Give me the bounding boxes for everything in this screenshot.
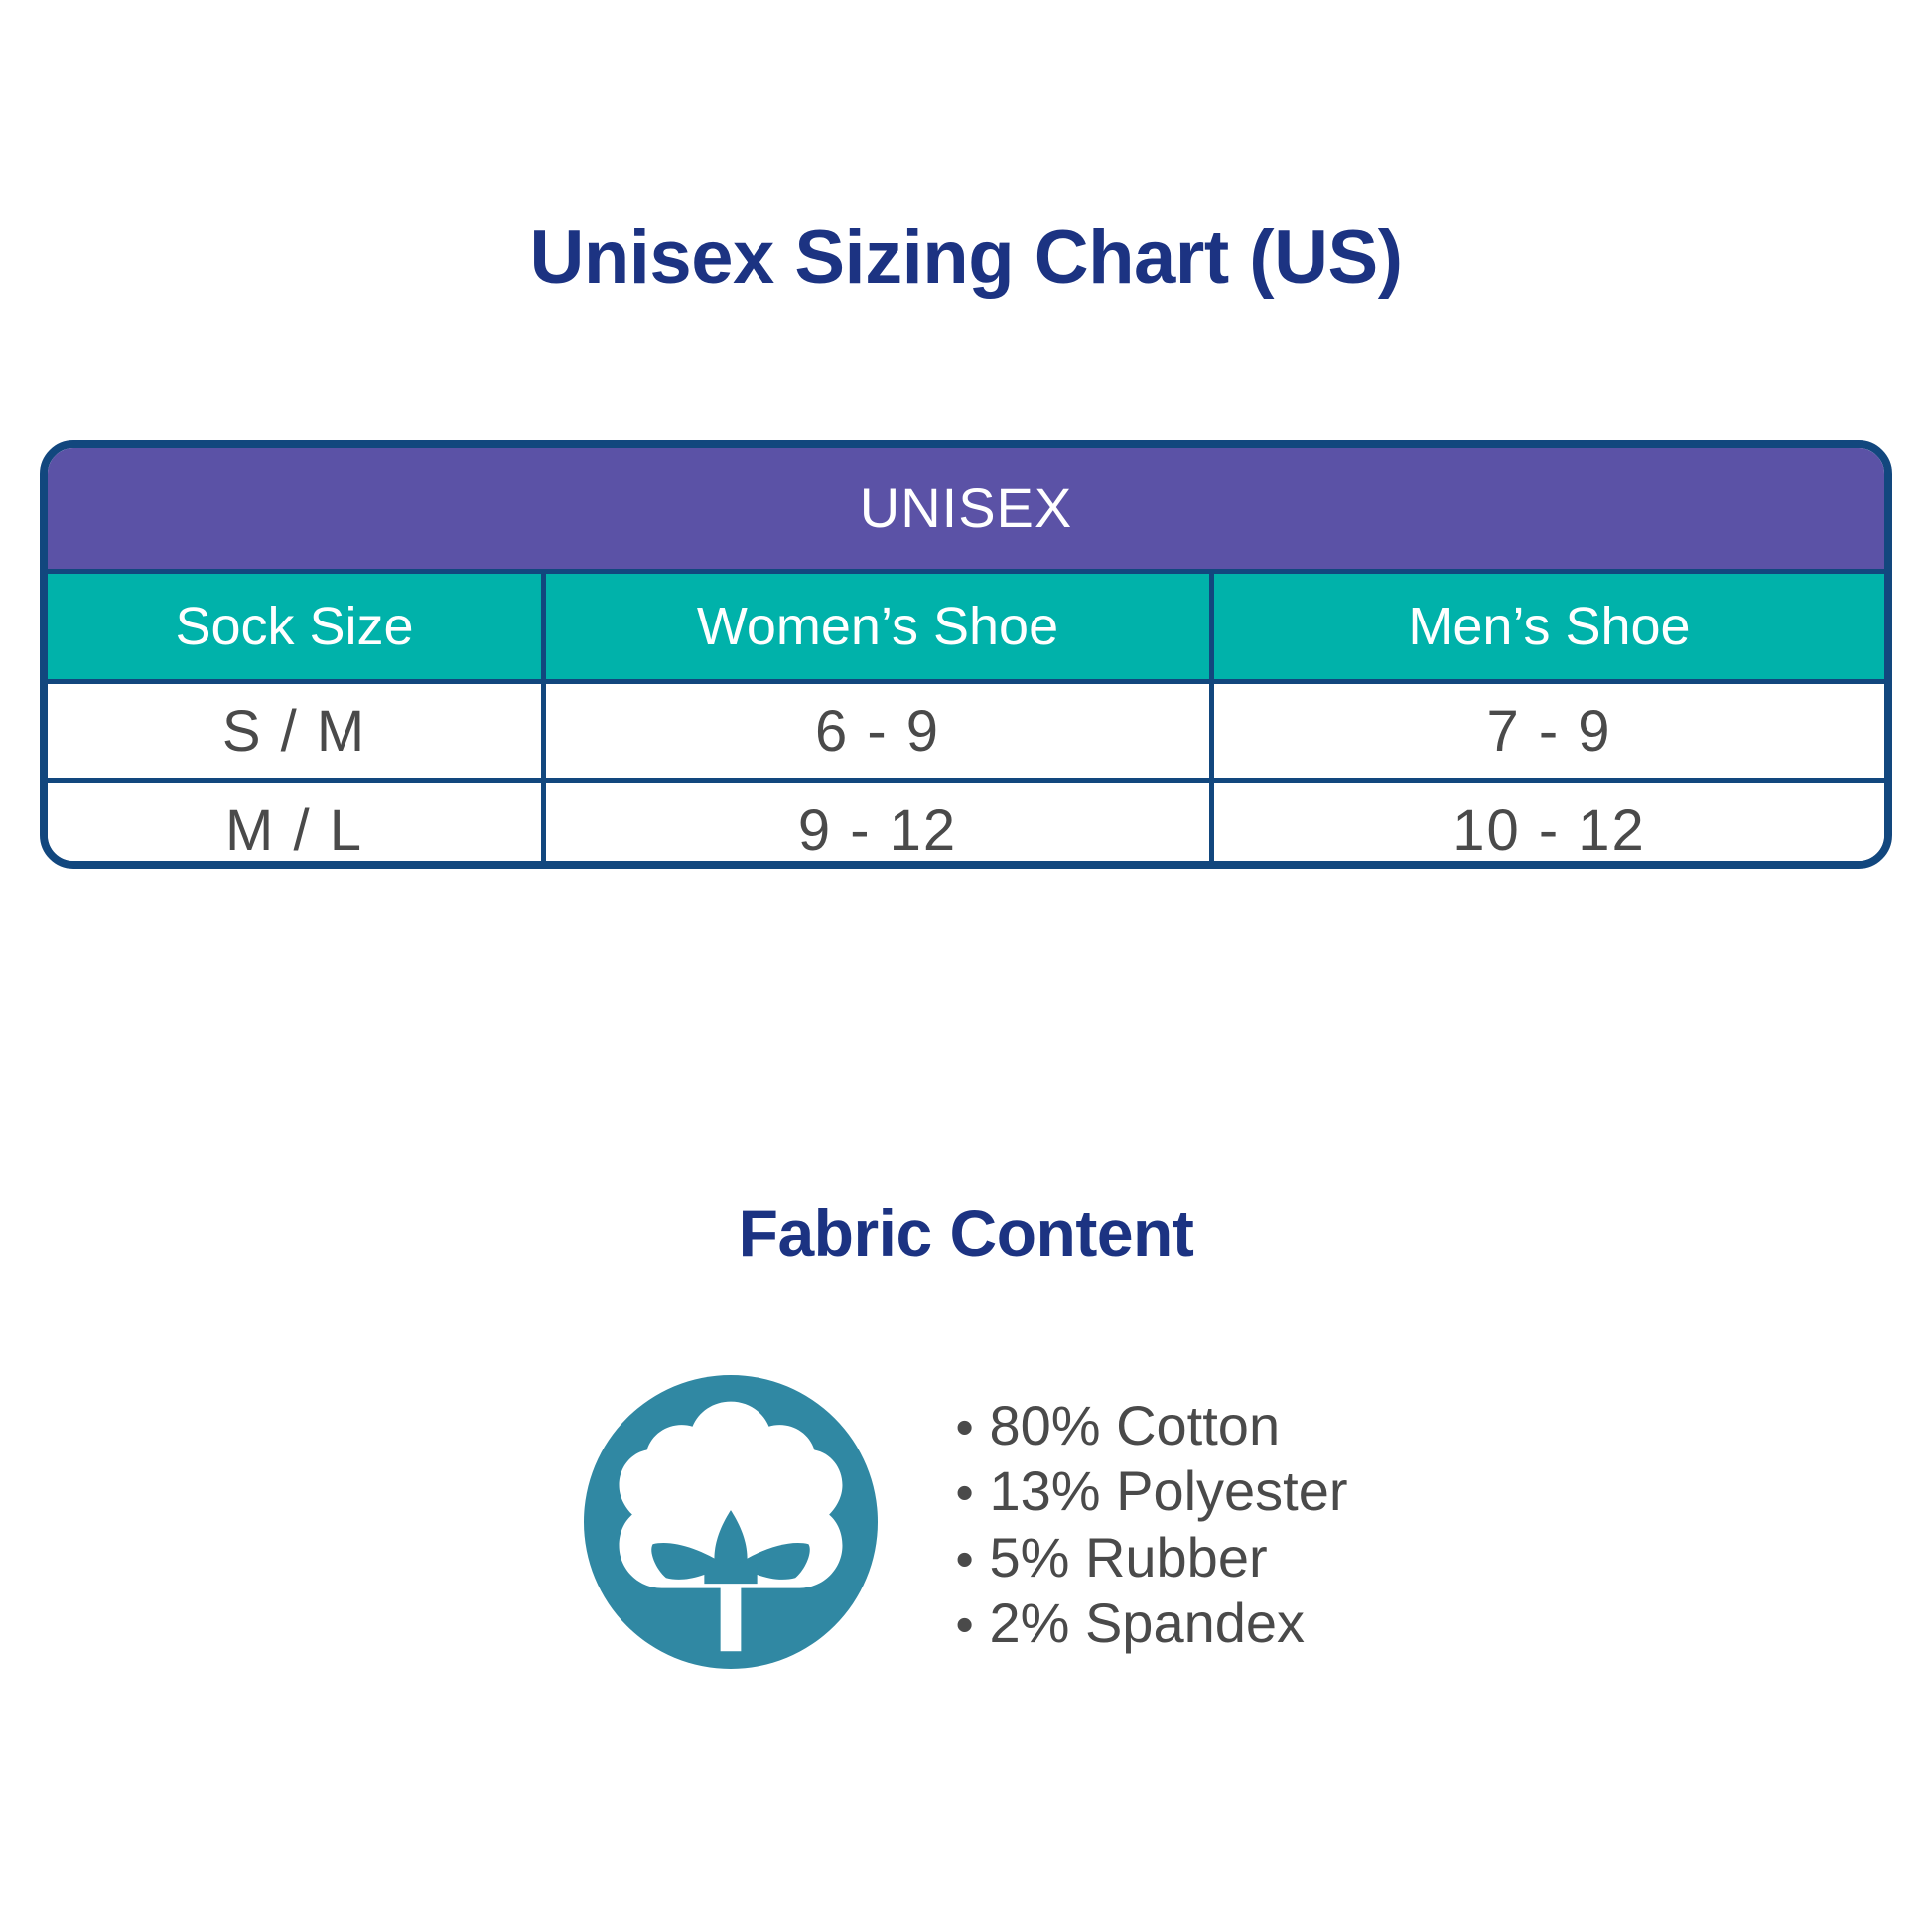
table-banner-label: UNISEX [860,481,1073,536]
cell-mens-shoe: 7 - 9 [1209,684,1884,778]
fabric-content-title: Fabric Content [0,1200,1932,1266]
fabric-item-label: 80% Cotton [989,1393,1280,1458]
list-item: • 13% Polyester [955,1458,1347,1524]
bullet-icon: • [955,1530,989,1590]
column-header-womens-shoe: Women’s Shoe [541,574,1209,679]
cotton-boll-icon [584,1375,878,1669]
list-item: • 5% Rubber [955,1525,1347,1590]
fabric-item-label: 13% Polyester [989,1458,1347,1524]
cell-womens-shoe: 6 - 9 [541,684,1209,778]
sizing-table: UNISEX Sock Size Women’s Shoe Men’s Shoe… [40,440,1892,869]
fabric-item-label: 5% Rubber [989,1525,1267,1590]
fabric-content-block: • 80% Cotton • 13% Polyester • 5% Rubber… [0,1375,1932,1669]
column-header-sock-size: Sock Size [48,574,541,679]
column-header-mens-shoe: Men’s Shoe [1209,574,1884,679]
page-title: Unisex Sizing Chart (US) [0,220,1932,296]
cell-sock-size: S / M [48,684,541,778]
fabric-item-label: 2% Spandex [989,1590,1305,1656]
cell-womens-shoe: 9 - 12 [541,783,1209,869]
cell-mens-shoe: 10 - 12 [1209,783,1884,869]
sizing-chart-page: Unisex Sizing Chart (US) UNISEX Sock Siz… [0,0,1932,1932]
table-row: M / L 9 - 12 10 - 12 [48,778,1884,869]
list-item: • 80% Cotton [955,1393,1347,1458]
table-header-row: Sock Size Women’s Shoe Men’s Shoe [48,569,1884,679]
bullet-icon: • [955,1398,989,1458]
bullet-icon: • [955,1595,989,1656]
bullet-icon: • [955,1463,989,1524]
table-row: S / M 6 - 9 7 - 9 [48,679,1884,778]
fabric-content-list: • 80% Cotton • 13% Polyester • 5% Rubber… [955,1375,1347,1656]
cell-sock-size: M / L [48,783,541,869]
table-banner-unisex: UNISEX [48,448,1884,569]
list-item: • 2% Spandex [955,1590,1347,1656]
